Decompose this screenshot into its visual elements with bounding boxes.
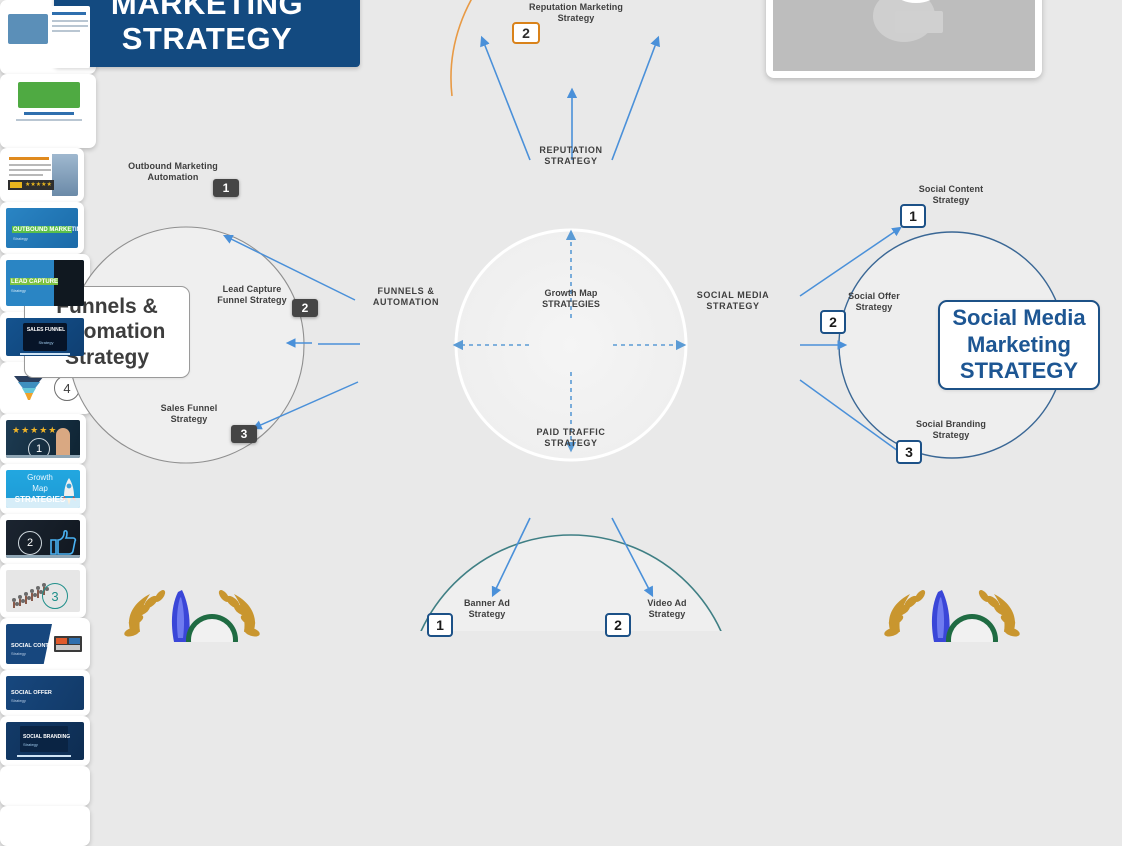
page-title-banner: MARKETING STRATEGY [54,0,360,67]
outbound-thumb-title: OUTBOUND MARKETING [13,227,78,233]
strategy-map-canvas: MARKETING STRATEGY [0,0,1122,631]
social-media-strategy-card[interactable]: 2 [0,514,86,564]
growth-map-thumb-l1: Growth [12,473,68,483]
social-media-strategy-number: 2 [18,531,42,555]
social-branding-caption: Social Branding Strategy [881,419,1021,441]
stars-icon: ★★★★★ [25,182,52,188]
outbound-marketing-badge: 1 [213,179,239,197]
reputation-strategy-card[interactable]: ★★★★★ 1 [0,414,86,464]
growth-map-caption: Growth Map STRATEGIES [501,288,641,310]
social-offer-thumb-sub: Strategy [11,698,26,703]
reputation-card-left[interactable] [0,0,96,74]
banner-ad-card[interactable] [0,766,90,806]
social-branding-card[interactable]: SOCIAL BRANDING Strategy [0,716,90,766]
social-offer-badge: 2 [820,310,846,334]
paid-traffic-strategy-caption: PAID TRAFFIC STRATEGY [501,427,641,449]
reputation-card-right[interactable] [0,74,96,148]
growth-map-card[interactable]: Growth Map STRATEGIES [0,464,86,514]
funnels-hub-number: 4 [54,375,80,401]
reputation-top-caption: Reputation Marketing Strategy [506,2,646,24]
paid-traffic-strategy-card[interactable]: 3 [0,564,86,618]
sales-funnel-thumb-sub: Strategy [26,340,66,345]
reputation-marketing-card[interactable]: ★★★★★ [0,148,84,202]
lead-capture-card[interactable]: LEAD CAPTURE Strategy [0,254,90,312]
social-media-strategy-caption: SOCIAL MEDIA STRATEGY [663,290,803,312]
video-ad-card[interactable] [0,806,90,846]
sales-funnel-caption: Sales Funnel Strategy [119,403,259,425]
social-media-strategy-label-box: Social Media Marketing STRATEGY [938,300,1100,390]
social-content-thumb-sub: Strategy [11,651,26,656]
award-wreath-icon-right [872,582,1032,642]
thumbs-up-icon [48,528,78,556]
social-label-line-3: STRATEGY [952,358,1085,385]
banner-line-2: STRATEGY [122,21,293,57]
social-content-caption: Social Content Strategy [881,184,1021,206]
social-content-card[interactable]: SOCIAL CONTENT Strategy [0,618,90,670]
social-label-line-2: Marketing [952,332,1085,359]
reputation-top-badge: 2 [512,22,540,44]
lead-capture-thumb-sub: Strategy [11,288,26,293]
social-branding-thumb-sub: Strategy [23,742,38,747]
social-branding-badge: 3 [896,440,922,464]
reputation-strategy-caption: REPUTATION STRATEGY [501,145,641,167]
video-thumbnail [773,0,1035,71]
funnels-hub-caption: FUNNELS & AUTOMATION [336,286,476,308]
growth-map-thumb-l2: Map [12,484,68,494]
outbound-marketing-card[interactable]: OUTBOUND MARKETING Strategy [0,202,84,254]
award-wreath-icon-left [112,582,272,642]
social-content-badge: 1 [900,204,926,228]
sales-funnel-thumb-title: SALES FUNNEL [26,327,66,333]
video-preview-card[interactable] [766,0,1042,78]
lead-capture-thumb-title: LEAD CAPTURE [11,279,58,285]
social-offer-thumb-title: SOCIAL OFFER [11,690,52,696]
video-ad-badge: 2 [605,613,631,637]
banner-ad-badge: 1 [427,613,453,637]
social-branding-thumb-title: SOCIAL BRANDING [23,734,70,740]
banner-line-1: MARKETING [111,0,303,21]
outbound-thumb-sub: Strategy [13,236,28,241]
paid-traffic-strategy-number: 3 [42,583,68,609]
sales-funnel-badge: 3 [231,425,257,443]
social-offer-card[interactable]: SOCIAL OFFER Strategy [0,670,90,716]
social-label-line-1: Social Media [952,305,1085,332]
lead-capture-badge: 2 [292,299,318,317]
sales-funnel-card[interactable]: SALES FUNNEL Strategy [0,312,90,362]
five-stars-icon: ★★★★★ [12,426,57,435]
